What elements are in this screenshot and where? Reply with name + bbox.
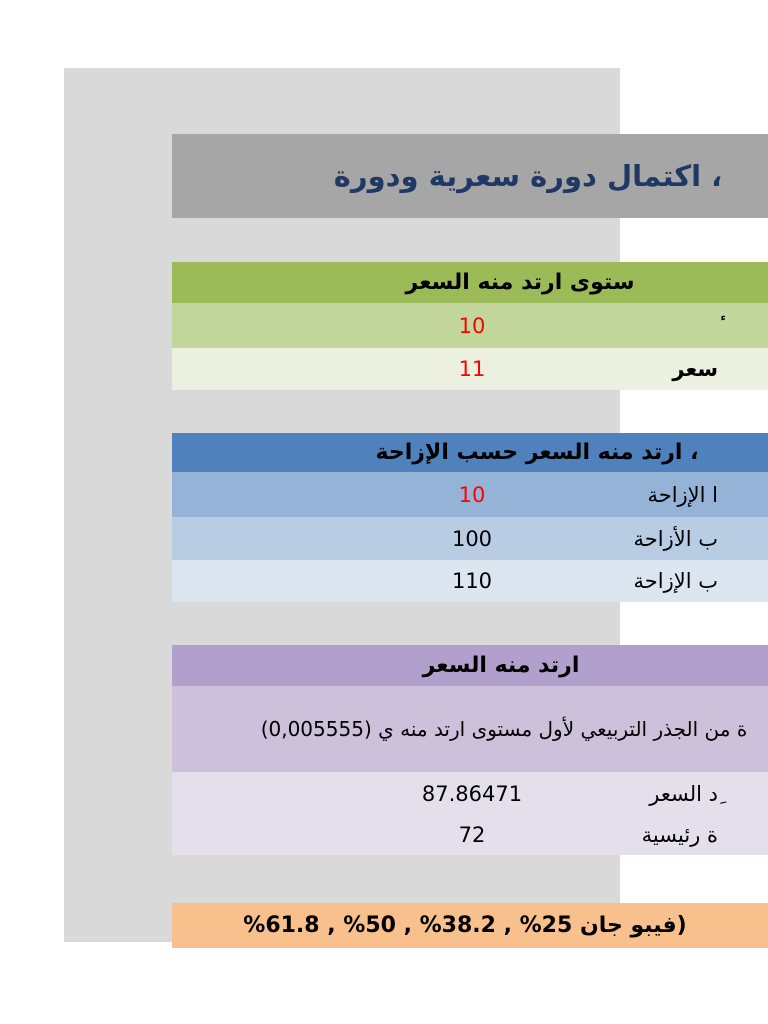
section-header-purple-label: ارتد منه السعر xyxy=(172,653,768,678)
row-value: 10 xyxy=(412,483,532,507)
table-row: سعر 11 xyxy=(172,348,768,390)
section-note-text: ة من الجذر التربيعي لأول مستوى ارتد منه … xyxy=(172,715,768,744)
section-header-green-label: ستوى ارتد منه السعر xyxy=(172,270,768,295)
row-value: 72 xyxy=(412,823,532,847)
row-label: ب الأزاحة xyxy=(634,527,718,551)
row-label: ِد السعر xyxy=(649,782,718,806)
table-row: ب الأزاحة 100 xyxy=(172,517,768,560)
row-label: ب الإزاحة xyxy=(634,569,718,593)
table-row: ة رئيسية 72 xyxy=(172,815,768,855)
table-row: ب الإزاحة 110 xyxy=(172,560,768,602)
row-label: ة رئيسية xyxy=(642,823,718,847)
section-header-purple: ارتد منه السعر xyxy=(172,645,768,686)
row-value: 87.86471 xyxy=(412,782,532,806)
row-label: سعر xyxy=(672,357,718,381)
footer-band: (فيبو جان 25% , 38.2% , 50% , 61.8% xyxy=(172,903,768,948)
section-header-blue: ، ارتد منه السعر حسب الإزاحة xyxy=(172,433,768,472)
document-title-band: ، اكتمال دورة سعرية ودورة xyxy=(172,134,768,218)
row-value: 10 xyxy=(412,314,532,338)
footer-band-label: (فيبو جان 25% , 38.2% , 50% , 61.8% xyxy=(172,913,768,938)
section-header-blue-label: ، ارتد منه السعر حسب الإزاحة xyxy=(172,440,768,465)
section-header-green: ستوى ارتد منه السعر xyxy=(172,262,768,303)
row-value: 110 xyxy=(412,569,532,593)
row-value: 100 xyxy=(412,527,532,551)
section-note-row: ة من الجذر التربيعي لأول مستوى ارتد منه … xyxy=(172,686,768,772)
row-label: ا الإزاحة xyxy=(647,483,718,507)
table-row: ٔ 10 xyxy=(172,303,768,348)
row-value: 11 xyxy=(412,357,532,381)
table-row: ا الإزاحة 10 xyxy=(172,472,768,517)
table-row: ِد السعر 87.86471 xyxy=(172,772,768,815)
page-title: ، اكتمال دورة سعرية ودورة xyxy=(172,159,768,193)
